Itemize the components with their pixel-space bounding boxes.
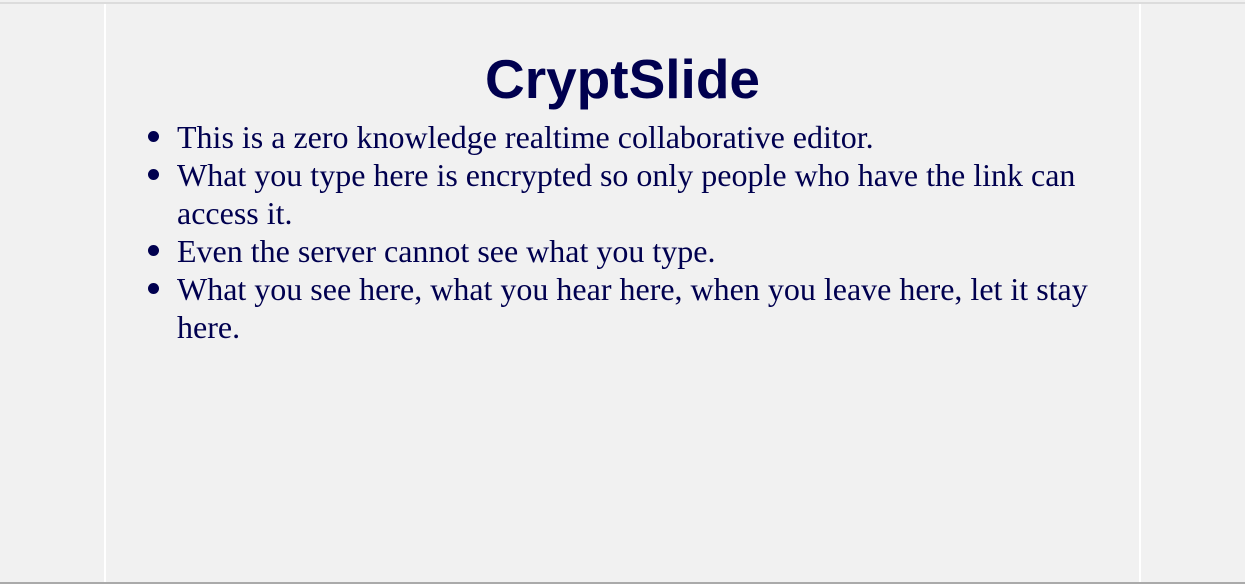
bullet-dot-icon [148,245,159,256]
app-canvas: CryptSlide This is a zero knowledge real… [0,0,1245,584]
slide-bullet-list[interactable]: This is a zero knowledge realtime collab… [106,118,1139,346]
slide-bullet-text[interactable]: This is a zero knowledge realtime collab… [177,118,1097,156]
slide-bullet-item[interactable]: Even the server cannot see what you type… [106,232,1139,270]
slide-bullet-text[interactable]: What you type here is encrypted so only … [177,156,1097,232]
slide-page-right-edge [1139,4,1141,582]
bullet-dot-icon [148,131,159,142]
slide-title[interactable]: CryptSlide [106,48,1139,110]
slide-bullet-item[interactable]: What you type here is encrypted so only … [106,156,1139,232]
bullet-dot-icon [148,283,159,294]
slide-bullet-item[interactable]: This is a zero knowledge realtime collab… [106,118,1139,156]
slide-bullet-text[interactable]: Even the server cannot see what you type… [177,232,1097,270]
bullet-dot-icon [148,169,159,180]
slide-bullet-text[interactable]: What you see here, what you hear here, w… [177,270,1097,346]
left-gutter [0,4,104,582]
slide-page[interactable]: CryptSlide This is a zero knowledge real… [106,4,1139,582]
slide-bullet-item[interactable]: What you see here, what you hear here, w… [106,270,1139,346]
right-gutter [1141,4,1245,582]
